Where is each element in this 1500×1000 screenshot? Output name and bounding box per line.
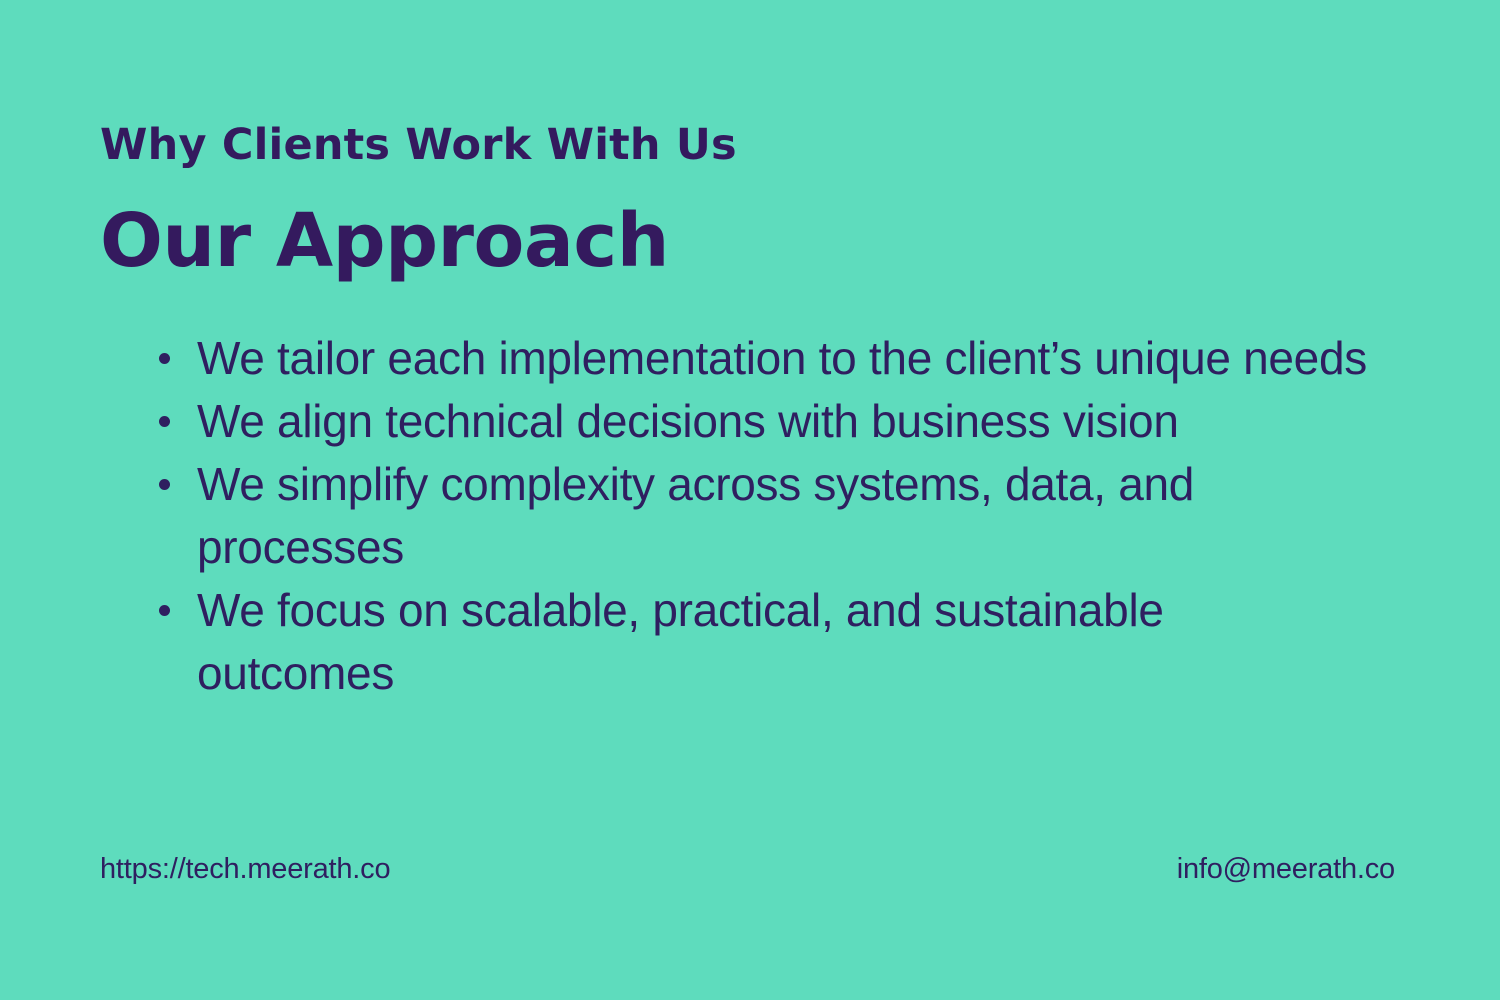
list-item: We align technical decisions with busine… — [155, 390, 1370, 453]
list-item: We simplify complexity across systems, d… — [155, 453, 1370, 579]
slide-kicker: Why Clients Work With Us — [100, 123, 737, 168]
footer-email-link[interactable]: info@meerath.co — [1177, 853, 1395, 886]
list-item: We tailor each implementation to the cli… — [155, 327, 1370, 390]
slide-title: Our Approach — [100, 203, 669, 281]
presentation-slide: Why Clients Work With Us Our Approach We… — [0, 0, 1500, 1000]
slide-footer: https://tech.meerath.co info@meerath.co — [0, 853, 1500, 903]
footer-website-link[interactable]: https://tech.meerath.co — [100, 853, 390, 886]
approach-bullet-list: We tailor each implementation to the cli… — [155, 327, 1370, 705]
list-item: We focus on scalable, practical, and sus… — [155, 579, 1370, 705]
